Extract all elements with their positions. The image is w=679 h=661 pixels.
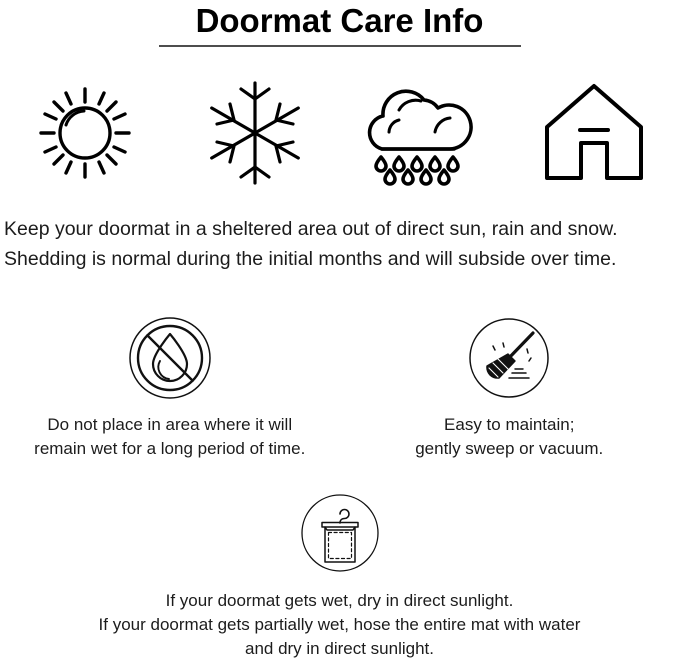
tip-line-1: Do not place in area where it will [34,413,305,437]
weather-icon-cell [509,70,679,195]
no-water-icon [128,316,212,400]
house-icon [539,77,649,189]
no-water-icon-wrap [128,312,212,404]
hanging-mat-icon-wrap [298,487,382,579]
weather-icon-row [0,70,679,195]
drying-caption: If your doormat gets wet, dry in direct … [99,589,581,661]
intro-line-1: Keep your doormat in a sheltered area ou… [4,214,679,244]
care-tips-row: Do not place in area where it will remai… [0,312,679,461]
intro-line-2: Shedding is normal during the initial mo… [4,244,679,274]
drying-instructions: If your doormat gets wet, dry in direct … [0,487,679,661]
snowflake-icon [203,77,307,189]
intro-paragraph: Keep your doormat in a sheltered area ou… [4,214,679,274]
tip-line-2: remain wet for a long period of time. [34,437,305,461]
drying-line-3: and dry in direct sunlight. [99,637,581,661]
tip-line-1: Easy to maintain; [415,413,603,437]
weather-icon-cell [170,70,340,195]
broom-icon-wrap [467,312,551,404]
tip-line-2: gently sweep or vacuum. [415,437,603,461]
weather-icon-cell [340,70,510,195]
broom-icon [467,316,551,400]
drying-line-1: If your doormat gets wet, dry in direct … [99,589,581,613]
page-header: Doormat Care Info [0,0,679,47]
title-divider [159,45,521,47]
drying-line-2: If your doormat gets partially wet, hose… [99,613,581,637]
care-tip-no-water-caption: Do not place in area where it will remai… [34,413,305,461]
hanging-mat-icon [298,491,382,575]
weather-icon-cell [0,70,170,195]
care-tip-no-water: Do not place in area where it will remai… [0,312,340,461]
sun-icon [33,81,137,185]
page-title: Doormat Care Info [0,0,679,40]
care-tip-sweep: Easy to maintain; gently sweep or vacuum… [340,312,679,461]
care-tip-sweep-caption: Easy to maintain; gently sweep or vacuum… [415,413,603,461]
rain-cloud-icon [363,77,485,189]
